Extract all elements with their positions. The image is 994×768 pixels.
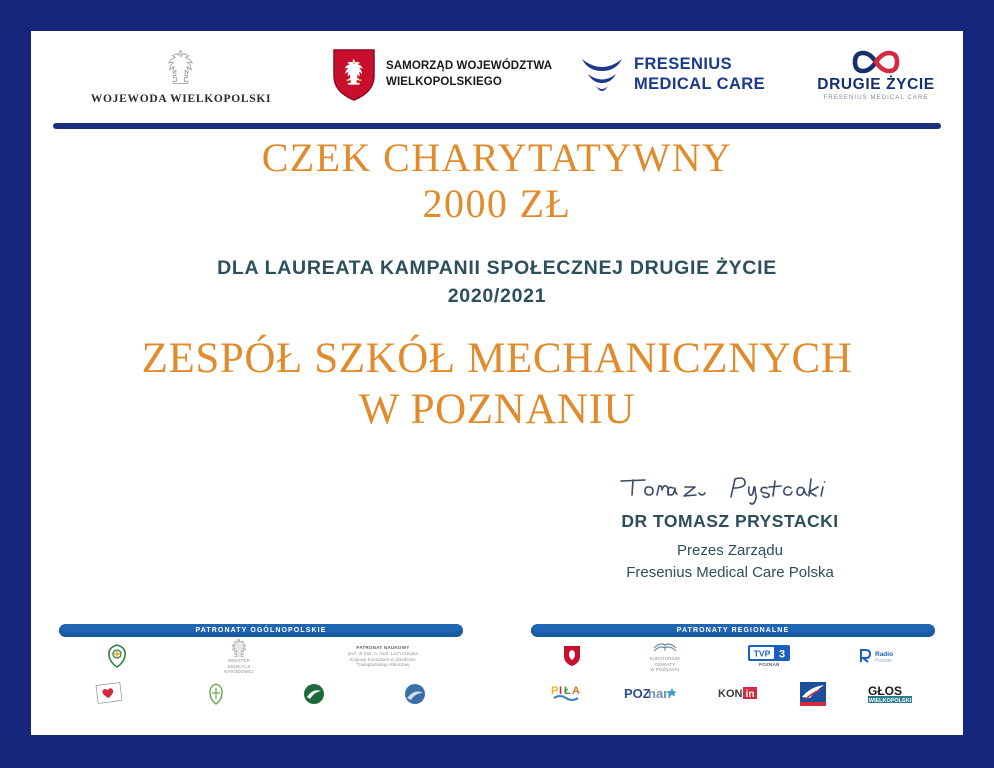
leszno-mark-icon	[798, 681, 828, 707]
svg-text:TVP: TVP	[754, 648, 771, 658]
logo-fresenius-medical-care: FRESENIUS MEDICAL CARE	[579, 53, 789, 97]
radio-poznan-mark-icon: Radio Poznań	[859, 648, 903, 664]
glos-wielkopolski-logo: GŁOS WIELKOPOLSKI	[866, 684, 918, 704]
logo-fresenius-line1: FRESENIUS	[634, 55, 765, 75]
ministry-health-crest	[104, 643, 130, 670]
patrons-national-banner: PATRONATY OGÓLNOPOLSKIE	[59, 624, 463, 637]
kuratorium-oswiaty-caption: KURATORIUM OŚWIATY W POZNANIU	[650, 656, 680, 673]
blue-circle-logo	[403, 682, 427, 706]
patrons-national-row-2	[59, 675, 463, 713]
header-divider-rule	[53, 123, 941, 129]
signatory-name: DR TOMASZ PRYSTACKI	[497, 511, 963, 532]
patronat-naukowy-detail: prof. dr hab. n. med. Lech Cierpka Krajo…	[348, 651, 418, 668]
patrons-regional-banner: PATRONATY REGIONALNE	[531, 624, 935, 637]
poznan-logo: POZ nan	[622, 684, 678, 705]
polish-eagle-emblem	[161, 46, 201, 90]
svg-text:P: P	[551, 685, 558, 697]
patrons-regional-group: PATRONATY REGIONALNE	[531, 624, 935, 713]
recipient-line-1: ZESPÓŁ SZKÓŁ MECHANICZNYCH	[31, 334, 963, 385]
patrons-national-row-1: MINISTER EDUKACJI NARODOWEJ PATRONAT NAU…	[59, 637, 463, 675]
patronat-naukowy-logo: PATRONAT NAUKOWY prof. dr hab. n. med. L…	[348, 645, 418, 668]
minister-edukacji-eagle-icon	[230, 637, 248, 657]
header-logo-bar: WOJEWODA WIELKOPOLSKI SAMORZĄD WOJ	[31, 31, 963, 119]
tvp3-mark-icon: TVP 3	[748, 645, 790, 661]
patrons-footer: PATRONATY OGÓLNOPOLSKIE	[31, 624, 963, 713]
glos-wielkopolski-mark-icon: GŁOS WIELKOPOLSKI	[866, 684, 918, 704]
svg-text:3: 3	[779, 648, 785, 660]
svg-text:Ł: Ł	[564, 685, 571, 697]
award-description: DLA LAUREATA KAMPANII SPOŁECZNEJ DRUGIE …	[31, 254, 963, 311]
svg-text:POZ: POZ	[624, 686, 651, 701]
infinity-logo	[845, 49, 907, 75]
recipient-name: ZESPÓŁ SZKÓŁ MECHANICZNYCH W POZNANIU	[31, 334, 963, 435]
svg-text:KON: KON	[718, 688, 743, 700]
award-line-2: 2020/2021	[31, 282, 963, 310]
signatory-role: Prezes Zarządu Fresenius Medical Care Po…	[497, 540, 963, 584]
svg-text:A: A	[572, 685, 580, 697]
wielkopolska-shield-emblem	[331, 47, 377, 103]
poltransplant-heart-logo	[95, 681, 129, 707]
svg-text:in: in	[746, 689, 755, 700]
pila-mark-icon: P I Ł A	[548, 682, 584, 706]
tvp3-poznan-sub: POZNAŃ	[759, 662, 780, 668]
certificate-frame: WOJEWODA WIELKOPOLSKI SAMORZĄD WOJ	[0, 0, 994, 768]
poltransplant-heart-icon	[95, 681, 129, 707]
handwritten-signature	[497, 467, 963, 511]
certificate-panel: WOJEWODA WIELKOPOLSKI SAMORZĄD WOJ	[31, 31, 963, 735]
check-amount: 2000 ZŁ	[31, 181, 963, 227]
svg-text:nan: nan	[648, 686, 671, 701]
blue-circle-icon	[403, 682, 427, 706]
wielkopolska-izba-lekarska-logo	[206, 682, 226, 707]
patrons-regional-row-1: KURATORIUM OŚWIATY W POZNANIU TVP 3 POZN…	[531, 637, 935, 675]
logo-samorzad-line1: SAMORZĄD WOJEWÓDZTWA	[386, 59, 552, 75]
signature-ink-icon	[615, 469, 845, 509]
signatory-role-line2: Fresenius Medical Care Polska	[497, 562, 963, 584]
logo-fresenius-line2: MEDICAL CARE	[634, 75, 765, 95]
open-book-icon	[652, 639, 678, 655]
radio-poznan-logo: Radio Poznań	[859, 648, 903, 664]
minister-edukacji-caption: MINISTER EDUKACJI NARODOWEJ	[224, 658, 253, 675]
logo-drugie-zycie: DRUGIE ŻYCIE FRESENIUS MEDICAL CARE	[789, 49, 963, 101]
green-circle-icon	[302, 682, 326, 706]
fresenius-chevron-logo	[579, 53, 625, 97]
logo-samorzad-label: SAMORZĄD WOJEWÓDZTWA WIELKOPOLSKIEGO	[386, 59, 552, 90]
patrons-regional-row-2: P I Ł A POZ nan	[531, 675, 935, 713]
logo-samorzad-line2: WIELKOPOLSKIEGO	[386, 75, 552, 91]
pila-logo: P I Ł A	[548, 682, 584, 707]
leszno-logo	[798, 681, 828, 707]
svg-text:WIELKOPOLSKI: WIELKOPOLSKI	[869, 698, 912, 704]
poznan-mark-icon: POZ nan	[622, 684, 678, 704]
patrons-national-group: PATRONATY OGÓLNOPOLSKIE	[59, 624, 463, 713]
signatory-role-line1: Prezes Zarządu	[497, 540, 963, 562]
logo-wojewoda-wielkopolski: WOJEWODA WIELKOPOLSKI	[31, 46, 331, 105]
svg-text:GŁOS: GŁOS	[868, 684, 902, 698]
tvp3-poznan-logo: TVP 3 POZNAŃ	[748, 645, 790, 668]
minister-edukacji-narodowej-logo: MINISTER EDUKACJI NARODOWEJ	[224, 637, 253, 675]
patronat-naukowy-title: PATRONAT NAUKOWY	[356, 645, 409, 651]
award-line-1: DLA LAUREATA KAMPANII SPOŁECZNEJ DRUGIE …	[31, 254, 963, 282]
green-circle-logo	[302, 682, 326, 706]
wielkopolska-crest-logo	[563, 645, 581, 668]
certificate-body: CZEK CHARYTATYWNY 2000 ZŁ DLA LAUREATA K…	[31, 135, 963, 436]
signature-block: DR TOMASZ PRYSTACKI Prezes Zarządu Frese…	[497, 467, 963, 584]
konin-mark-icon: KON in	[716, 684, 760, 704]
logo-samorzad-wojewodztwa: SAMORZĄD WOJEWÓDZTWA WIELKOPOLSKIEGO	[331, 47, 579, 103]
logo-drugie-sublabel: FRESENIUS MEDICAL CARE	[824, 95, 929, 101]
konin-logo: KON in	[716, 684, 760, 705]
ministry-health-crest-icon	[104, 643, 130, 669]
logo-fresenius-label: FRESENIUS MEDICAL CARE	[634, 55, 765, 95]
recipient-line-2: W POZNANIU	[31, 385, 963, 436]
svg-text:Poznań: Poznań	[875, 658, 892, 664]
patrons-national-banner-label: PATRONATY OGÓLNOPOLSKIE	[196, 627, 327, 634]
check-title: CZEK CHARYTATYWNY	[31, 135, 963, 181]
izba-lekarska-icon	[206, 682, 226, 706]
kuratorium-oswiaty-logo: KURATORIUM OŚWIATY W POZNANIU	[650, 639, 680, 673]
wielkopolska-crest-icon	[563, 645, 581, 667]
svg-text:Radio: Radio	[875, 651, 893, 658]
patrons-regional-banner-label: PATRONATY REGIONALNE	[677, 627, 789, 634]
logo-drugie-label: DRUGIE ŻYCIE	[817, 76, 934, 94]
logo-wojewoda-label: WOJEWODA WIELKOPOLSKI	[91, 93, 271, 105]
